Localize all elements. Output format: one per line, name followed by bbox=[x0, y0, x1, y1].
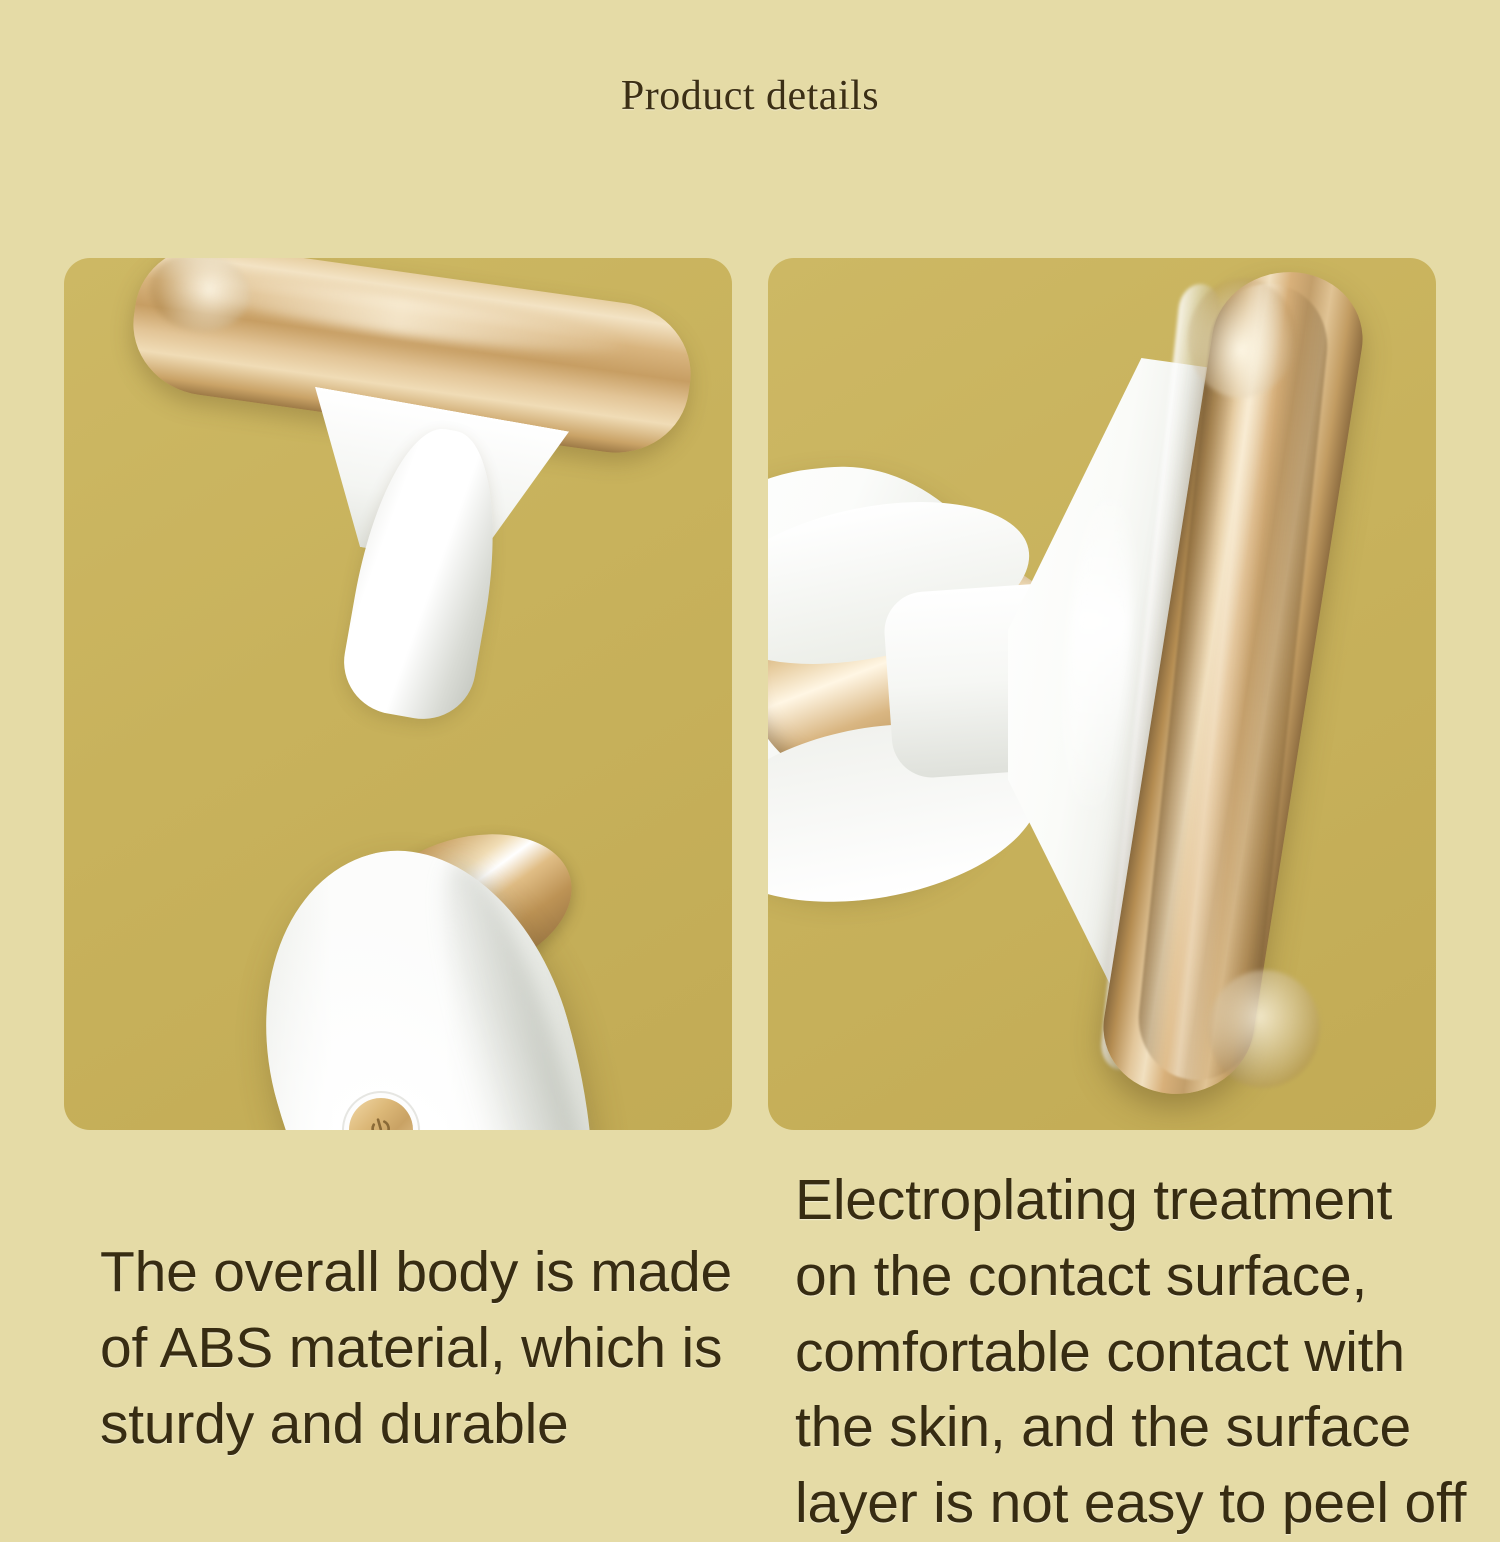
product-illustration-front-view bbox=[768, 258, 1436, 1130]
product-illustration-angled-view bbox=[64, 258, 732, 1130]
device-white-handle-body bbox=[219, 815, 656, 1130]
product-image-panel-left bbox=[64, 258, 732, 1130]
caption-right: Electroplating treatment on the contact … bbox=[795, 1163, 1475, 1542]
power-icon bbox=[362, 1111, 399, 1130]
product-details-page: Product details bbox=[0, 0, 1500, 1500]
caption-left: The overall body is made of ABS material… bbox=[100, 1235, 760, 1462]
page-title: Product details bbox=[0, 72, 1500, 120]
product-image-panel-right bbox=[768, 258, 1436, 1130]
